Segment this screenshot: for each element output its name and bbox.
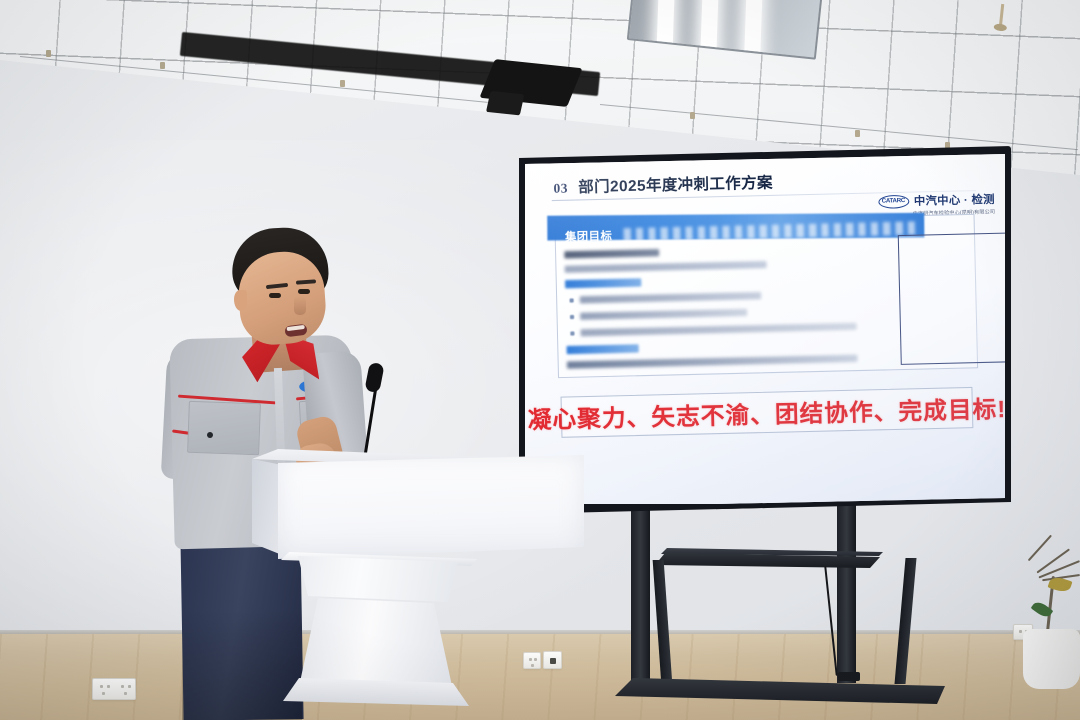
trousers-shading bbox=[182, 536, 302, 720]
presenter bbox=[0, 0, 1080, 720]
podium-neck bbox=[288, 556, 468, 602]
podium-column bbox=[300, 598, 452, 686]
pocket-button bbox=[207, 432, 213, 438]
podium-side-panel bbox=[252, 459, 282, 559]
presenter-eye bbox=[269, 293, 281, 298]
presenter-eye bbox=[298, 289, 310, 294]
presenter-ear bbox=[234, 290, 247, 311]
podium-front-panel: CATARC 中汽中心 检测 中汽研汽车检验中心(昆明)有限公司 bbox=[278, 455, 584, 559]
presenter-nose bbox=[294, 296, 306, 315]
presentation-room-photo: 03 部门2025年度冲刺工作方案 CATARC 中汽中心 · 检测 中汽研汽车… bbox=[0, 0, 1080, 720]
uniform-pocket-left bbox=[187, 401, 261, 455]
